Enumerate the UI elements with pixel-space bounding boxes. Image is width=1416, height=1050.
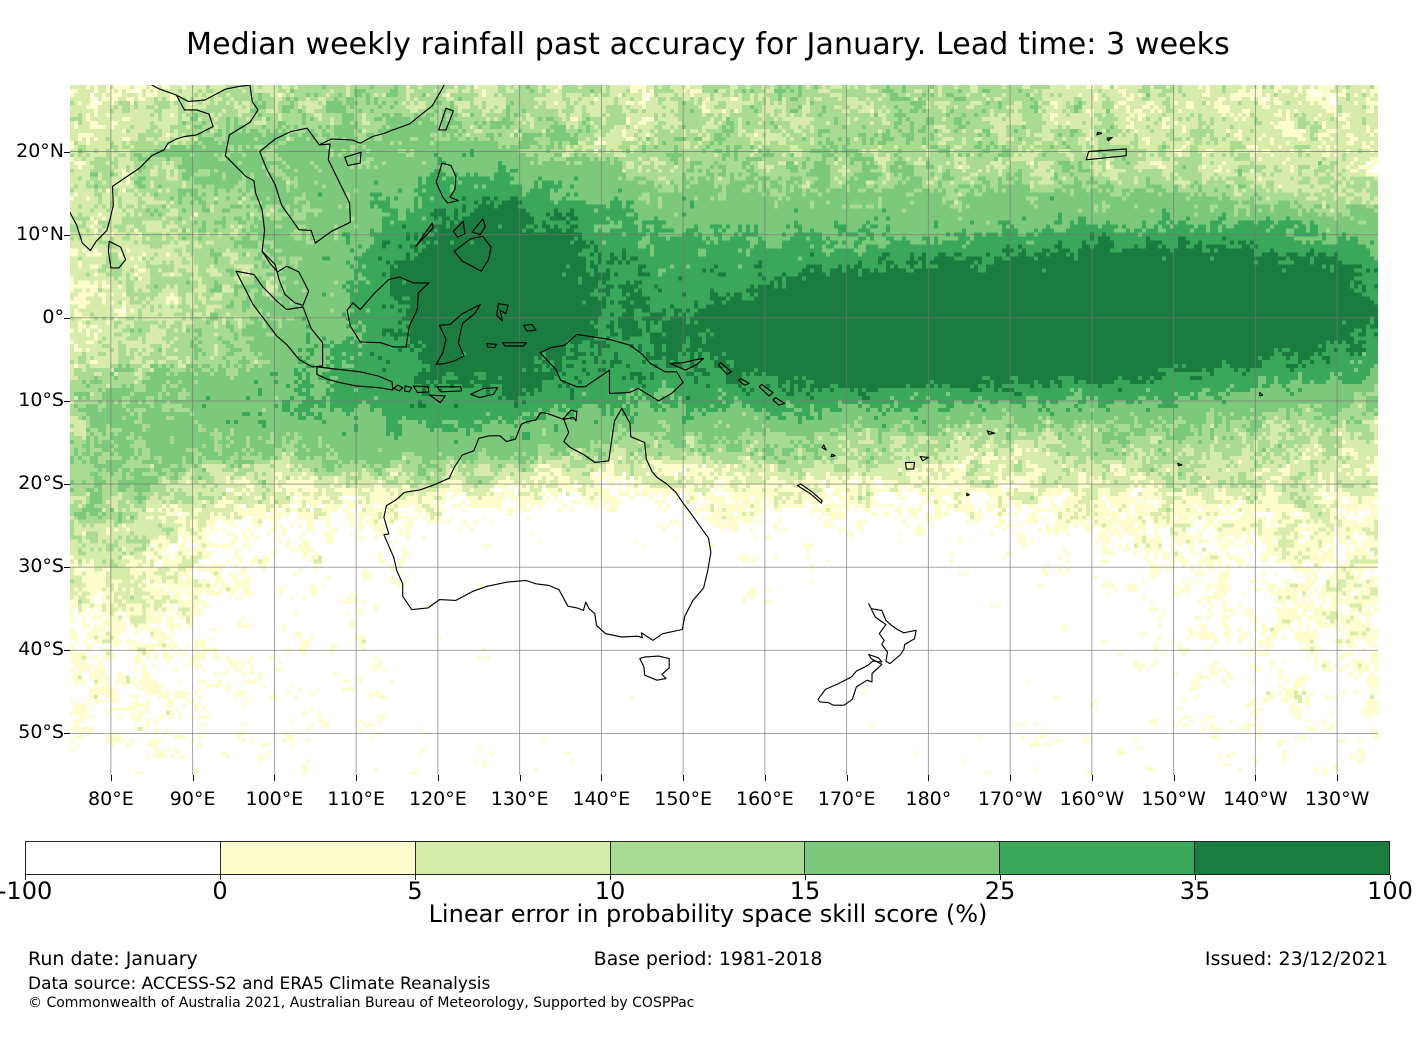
footer-base-period: Base period: 1981-2018: [0, 948, 1416, 970]
page-title: Median weekly rainfall past accuracy for…: [0, 26, 1416, 64]
x-axis-tick-mark: [274, 775, 275, 781]
y-axis-tick-mark: [64, 484, 70, 485]
colorbar-tick-mark: [610, 875, 611, 880]
y-axis-tick-mark: [64, 567, 70, 568]
x-axis-tick-label: 140°E: [572, 788, 630, 810]
map-plot-area: [70, 85, 1378, 775]
x-axis-tick-mark: [1010, 775, 1011, 781]
x-axis-tick-label: 130°E: [491, 788, 549, 810]
x-axis-tick-label: 160°E: [736, 788, 794, 810]
x-axis-tick-mark: [765, 775, 766, 781]
x-axis-tick-label: 130°W: [1305, 788, 1370, 810]
footer-copyright: © Commonwealth of Australia 2021, Austra…: [28, 995, 694, 1011]
x-axis-tick-label: 90°E: [170, 788, 216, 810]
x-axis-tick-mark: [928, 775, 929, 781]
y-axis-tick-mark: [64, 733, 70, 734]
footer-issued-date: Issued: 23/12/2021: [1205, 948, 1388, 970]
x-axis-tick-mark: [1092, 775, 1093, 781]
y-axis-tick-label: 40°S: [18, 638, 64, 660]
colorbar-segment: [26, 842, 221, 874]
y-axis-tick-mark: [64, 650, 70, 651]
skill-score-heatmap-raster: [70, 85, 1378, 775]
x-axis-tick-label: 140°W: [1223, 788, 1288, 810]
x-axis-tick-label: 180°: [905, 788, 951, 810]
colorbar: [25, 841, 1390, 875]
x-axis-tick-label: 150°E: [654, 788, 712, 810]
x-axis-tick-label: 80°E: [88, 788, 134, 810]
colorbar-tick-mark: [1000, 875, 1001, 880]
x-axis-tick-label: 120°E: [409, 788, 467, 810]
x-axis-tick-mark: [1337, 775, 1338, 781]
colorbar-segment: [611, 842, 806, 874]
x-axis-tick-mark: [520, 775, 521, 781]
x-axis-tick-mark: [438, 775, 439, 781]
y-axis-tick-label: 20°N: [16, 140, 64, 162]
x-axis-tick-label: 100°E: [245, 788, 303, 810]
x-axis-tick-label: 150°W: [1141, 788, 1206, 810]
colorbar-tick-mark: [1195, 875, 1196, 880]
footer-data-source: Data source: ACCESS-S2 and ERA5 Climate …: [28, 974, 490, 994]
y-axis-tick-label: 10°S: [18, 389, 64, 411]
colorbar-segment: [221, 842, 416, 874]
y-axis-tick-mark: [64, 401, 70, 402]
colorbar-tick-mark: [220, 875, 221, 880]
y-axis-tick-label: 50°S: [18, 721, 64, 743]
colorbar-label: Linear error in probability space skill …: [0, 900, 1416, 928]
x-axis-tick-mark: [356, 775, 357, 781]
colorbar-tick-mark: [415, 875, 416, 880]
x-axis-tick-label: 170°W: [978, 788, 1043, 810]
y-axis-tick-label: 30°S: [18, 555, 64, 577]
y-axis-tick-mark: [64, 318, 70, 319]
colorbar-segment: [1000, 842, 1195, 874]
y-axis-tick-label: 20°S: [18, 472, 64, 494]
x-axis-tick-mark: [683, 775, 684, 781]
y-axis-tick-mark: [64, 235, 70, 236]
x-axis-tick-mark: [601, 775, 602, 781]
x-axis-tick-mark: [111, 775, 112, 781]
colorbar-segment: [805, 842, 1000, 874]
colorbar-tick-mark: [25, 875, 26, 880]
x-axis-tick-mark: [847, 775, 848, 781]
x-axis-tick-mark: [1174, 775, 1175, 781]
colorbar-tick-mark: [805, 875, 806, 880]
x-axis-tick-label: 170°E: [818, 788, 876, 810]
y-axis-tick-mark: [64, 152, 70, 153]
y-axis-tick-label: 10°N: [16, 223, 64, 245]
colorbar-tick-mark: [1390, 875, 1391, 880]
x-axis-tick-mark: [193, 775, 194, 781]
x-axis-tick-label: 160°W: [1060, 788, 1125, 810]
y-axis-tick-label: 0°: [42, 306, 64, 328]
x-axis-tick-mark: [1255, 775, 1256, 781]
x-axis-tick-label: 110°E: [327, 788, 385, 810]
colorbar-segment: [1195, 842, 1389, 874]
colorbar-segment: [416, 842, 611, 874]
